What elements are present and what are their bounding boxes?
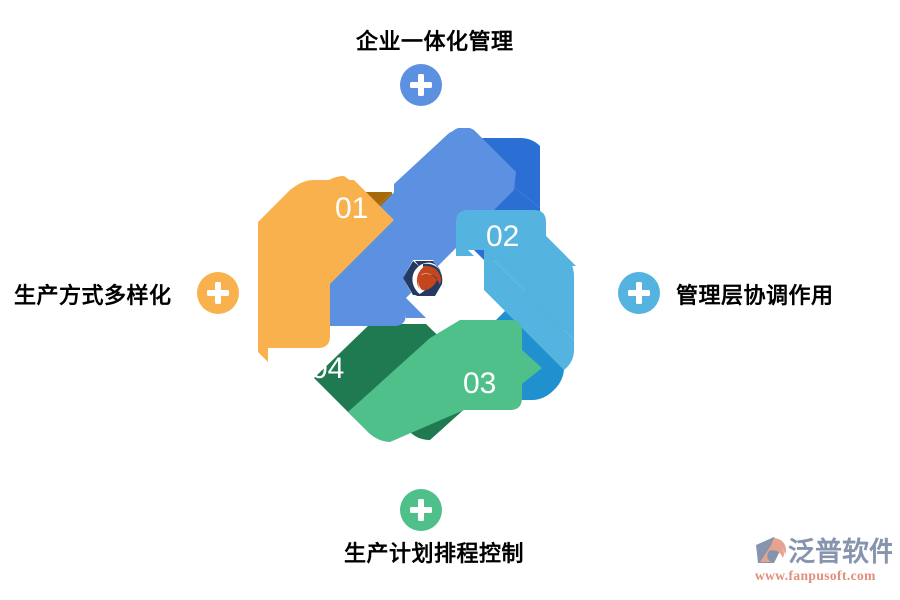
- watermark-logo: 泛普软件 www.fanpusoft.com: [752, 533, 892, 591]
- label-left-text: 生产方式多样化: [14, 278, 172, 310]
- plus-circle-icon-top: [400, 64, 442, 106]
- watermark-url-text: www.fanpusoft.com: [755, 568, 876, 583]
- label-bottom-text: 生产计划排程控制: [344, 536, 524, 568]
- arrow-number-01: 01: [335, 192, 368, 225]
- label-right-text: 管理层协调作用: [676, 278, 834, 310]
- arrow-number-02: 02: [486, 220, 519, 253]
- infographic-canvas: 企业一体化管理 生产方式多样化 管理层协调作用 生产计划排程控制: [0, 0, 900, 600]
- arrow-number-04: 04: [311, 352, 344, 385]
- plus-circle-icon-left: [197, 272, 239, 314]
- watermark-logo-mark: [756, 537, 786, 563]
- label-top-text: 企业一体化管理: [356, 24, 514, 56]
- watermark-brand-text: 泛普软件: [788, 536, 892, 568]
- plus-circle-icon-right: [618, 272, 660, 314]
- plus-circle-icon-bottom: [400, 489, 442, 531]
- cycle-arrow-diagram: 01 02 03 04: [258, 128, 602, 458]
- arrow-number-03: 03: [463, 367, 496, 400]
